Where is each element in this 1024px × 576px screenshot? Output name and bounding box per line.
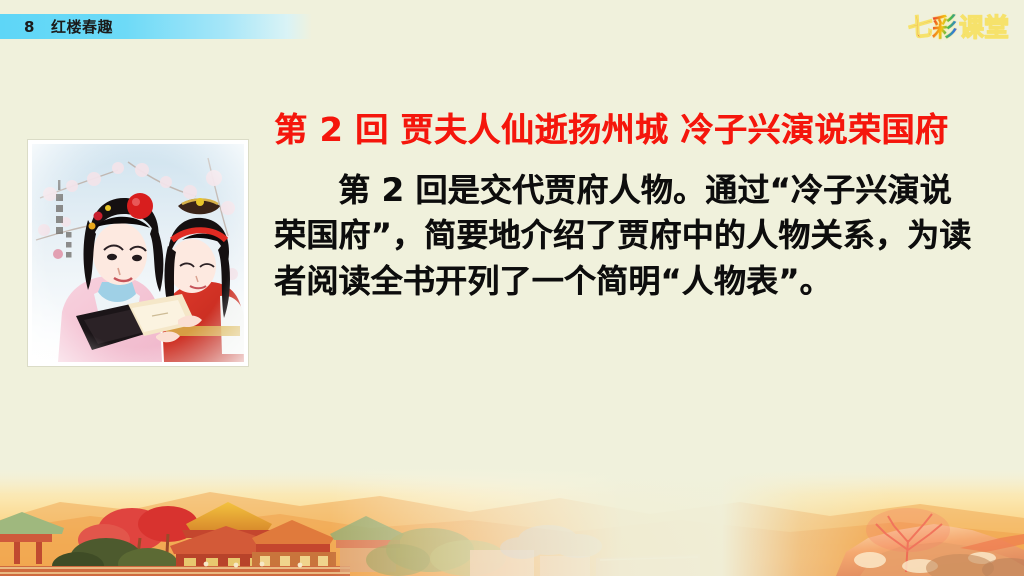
lesson-title: 红楼春趣 [51,16,113,37]
header-title: 8 红楼春趣 [0,14,312,39]
lesson-number: 8 [24,18,35,36]
body-paragraph: 第 2 回是交代贾府人物。通过“冷子兴演说荣国府”，简要地介绍了贾府中的人物关系… [274,168,978,304]
illustration-frame [28,140,248,366]
illustration-image [32,144,244,362]
content-column: 第 2 回 贾夫人仙逝扬州城 冷子兴演说荣国府 第 2 回是交代贾府人物。通过“… [274,108,978,304]
brand-logo: 七彩课堂 [908,10,1010,44]
logo-char-qi: 七 [907,13,933,41]
page-title: 第 2 回 贾夫人仙逝扬州城 冷子兴演说荣国府 [274,108,978,152]
logo-char-cai: 彩 [932,13,957,40]
logo-char-ketang: 课堂 [958,15,1010,40]
slide-canvas: 8 红楼春趣 七彩课堂 [0,0,1024,576]
bottom-decoration [0,468,1024,576]
